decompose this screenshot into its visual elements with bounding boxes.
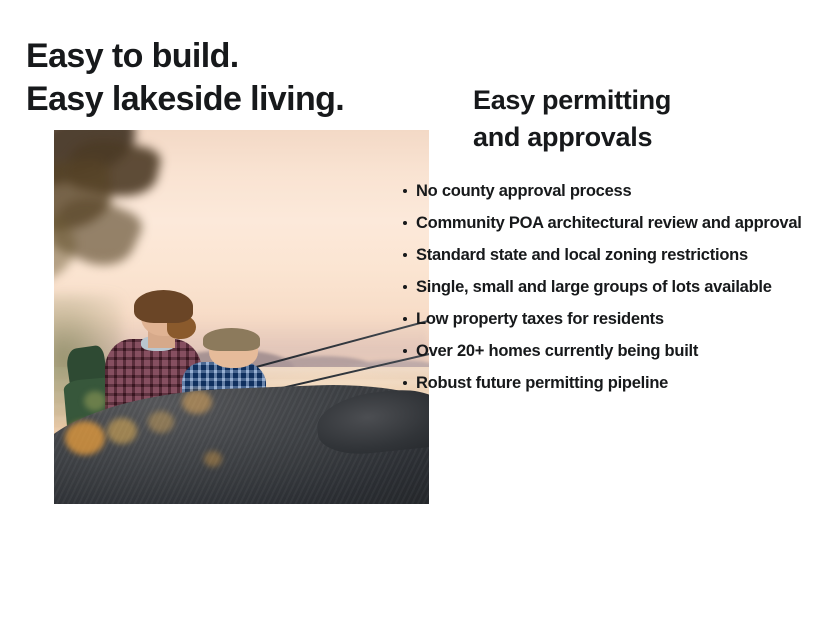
bokeh-light: [84, 391, 106, 411]
father-hair: [134, 290, 193, 323]
list-item: Community POA architectural review and a…: [400, 211, 836, 236]
tree-foliage: [54, 130, 189, 317]
list-item: Single, small and large groups of lots a…: [400, 275, 836, 300]
headline-line-2: Easy lakeside living.: [26, 78, 406, 121]
benefits-list: No county approval process Community POA…: [400, 179, 836, 396]
son-hair: [203, 328, 260, 351]
list-item: Standard state and local zoning restrict…: [400, 243, 836, 268]
bokeh-light: [204, 451, 222, 467]
list-item: Low property taxes for residents: [400, 307, 836, 332]
bokeh-light: [148, 411, 174, 433]
photo-illustration: [54, 130, 429, 504]
subhead-line-1: Easy permitting: [473, 82, 836, 119]
section-heading: Easy permitting and approvals: [473, 82, 836, 156]
page-title: Easy to build. Easy lakeside living.: [26, 35, 406, 121]
list-item: Over 20+ homes currently being built: [400, 339, 836, 364]
lakeside-fishing-photo: [54, 130, 429, 504]
bokeh-light: [107, 418, 137, 444]
list-item: No county approval process: [400, 179, 836, 204]
list-item: Robust future permitting pipeline: [400, 371, 836, 396]
slide-canvas: Easy to build. Easy lakeside living.: [0, 0, 840, 630]
bokeh-light: [182, 390, 212, 414]
headline-line-1: Easy to build.: [26, 35, 406, 78]
subhead-line-2: and approvals: [473, 119, 836, 156]
right-content-column: Easy permitting and approvals No county …: [400, 82, 836, 403]
